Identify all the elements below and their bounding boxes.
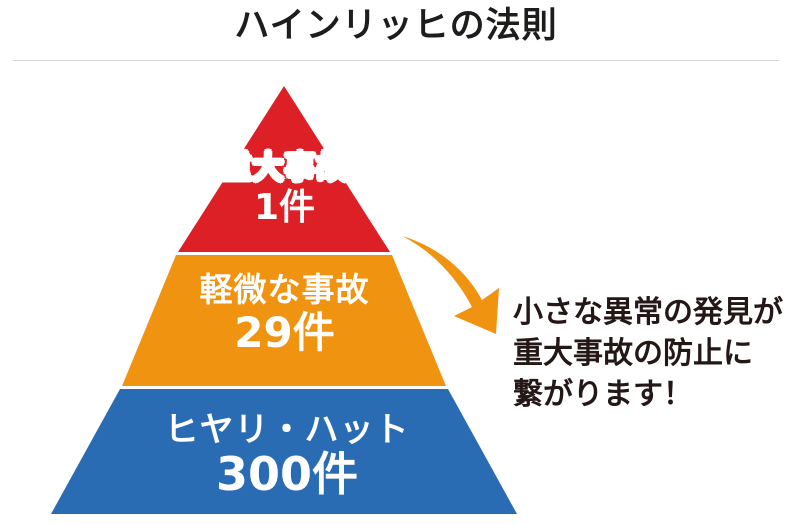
caption-block: 小さな異常の発見が 重大事故の防止に 繋がります！ — [513, 292, 788, 415]
band-value-serious-accident: 1件 — [112, 189, 457, 228]
arrow-shape — [402, 236, 499, 334]
page-title: ハインリッヒの法則 — [0, 2, 792, 50]
band-label-near-miss: ヒヤリ・ハット — [57, 412, 517, 449]
title-divider — [13, 60, 779, 61]
band-value-near-miss: 300件 — [57, 450, 517, 500]
band-label-serious-accident: 重大事故 — [112, 152, 457, 185]
caption-line-1: 小さな異常の発見が — [513, 292, 788, 333]
band-text-serious-accident: 重大事故 1件 — [112, 152, 457, 228]
curved-arrow-icon — [396, 226, 508, 338]
curved-arrow-svg — [396, 226, 508, 338]
caption-line-2: 重大事故の防止に — [513, 333, 788, 374]
infographic-canvas: ハインリッヒの法則 重大事故 1件 軽微な事故 29件 ヒヤリ・ハット 300件… — [0, 0, 792, 524]
caption-line-3: 繋がります！ — [513, 374, 788, 415]
band-text-near-miss: ヒヤリ・ハット 300件 — [57, 412, 517, 499]
